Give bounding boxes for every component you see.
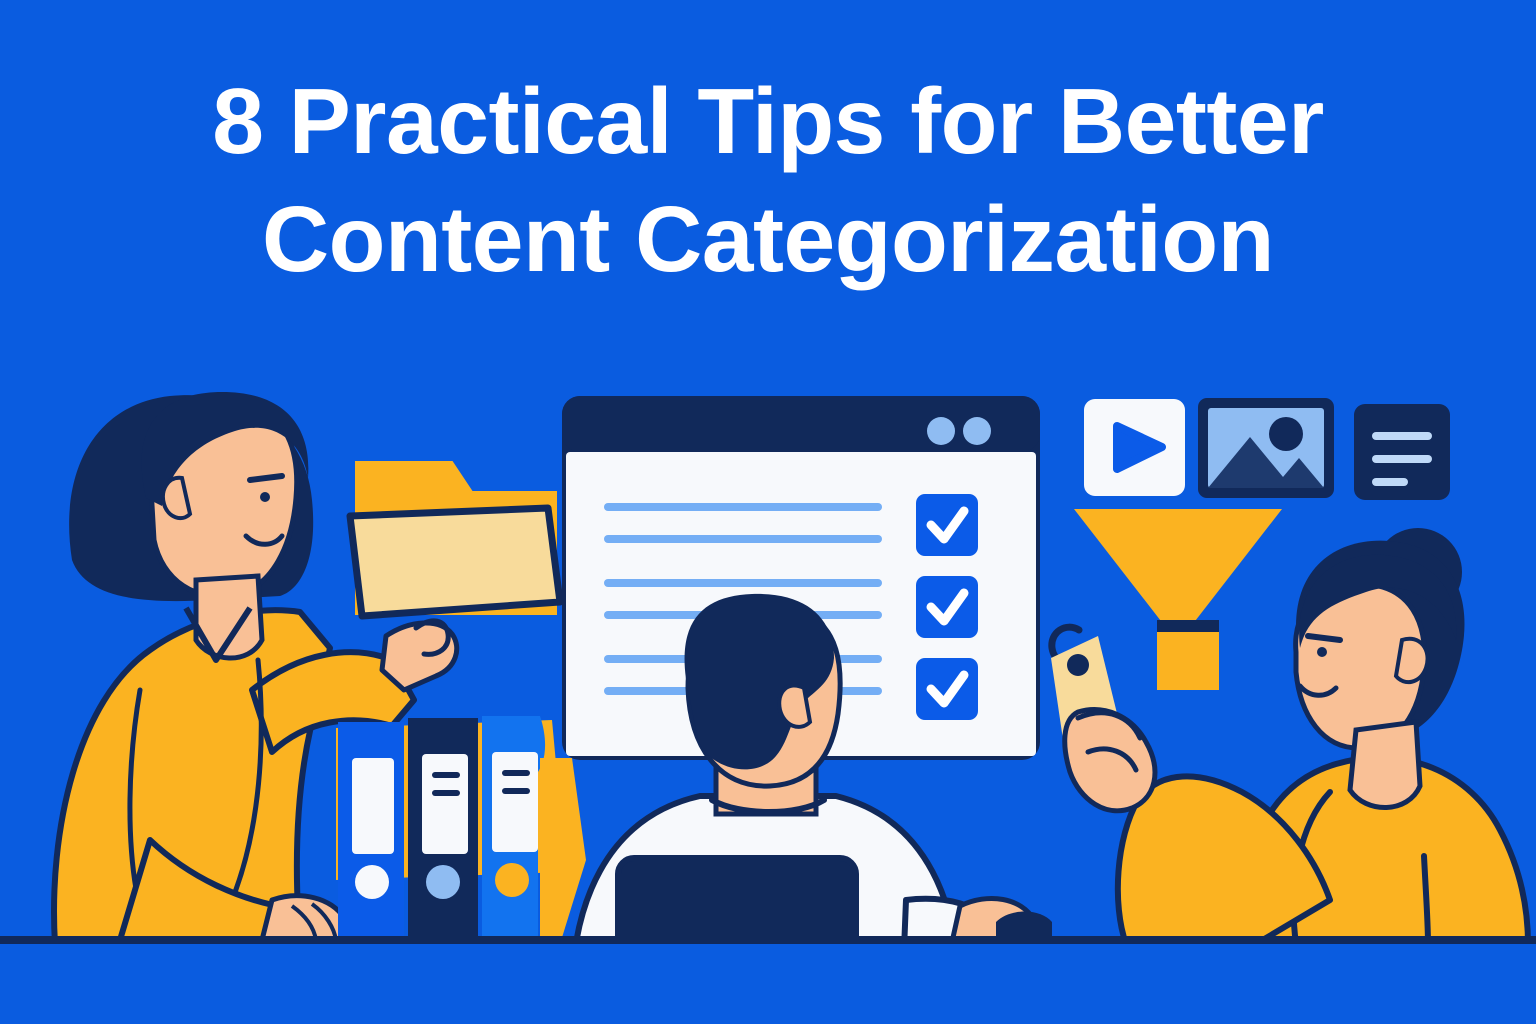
photo-icon-sun xyxy=(1269,417,1303,451)
desk-surface xyxy=(0,944,1536,1024)
eyebrow-right xyxy=(1308,636,1340,640)
image-photo-icon[interactable] xyxy=(1198,398,1334,498)
checkbox-2[interactable] xyxy=(916,576,978,638)
ear-right xyxy=(1396,639,1428,682)
doc-icon-line-3 xyxy=(1372,478,1408,486)
funnel-neck xyxy=(1157,632,1219,690)
banner-canvas: 8 Practical Tips for Better Content Cate… xyxy=(0,0,1536,1024)
checkbox-1[interactable] xyxy=(916,494,978,556)
binder-3-line-b xyxy=(502,788,530,794)
content-categorization-illustration xyxy=(0,0,1536,1024)
checkbox-group[interactable] xyxy=(916,494,978,720)
doc-icon-line-2 xyxy=(1372,455,1432,463)
video-play-icon[interactable] xyxy=(1084,399,1185,496)
binder-2-line-a xyxy=(432,772,460,778)
binder-shelf xyxy=(336,716,586,944)
binder-3-line-a xyxy=(502,770,530,776)
funnel-band xyxy=(1157,620,1219,632)
titlebar-dot-2[interactable] xyxy=(963,417,991,445)
titlebar-dot-1[interactable] xyxy=(927,417,955,445)
tag-hole xyxy=(1067,654,1089,676)
folder-front-flap xyxy=(350,508,560,616)
binder-1-dot xyxy=(355,865,389,899)
eyebrow-left xyxy=(250,476,282,480)
text-document-icon[interactable] xyxy=(1354,404,1450,500)
neck-right xyxy=(1350,722,1420,808)
ear-center xyxy=(779,685,810,726)
text-line-1 xyxy=(604,503,882,511)
binder-3-label xyxy=(492,752,538,852)
binder-1-label xyxy=(352,758,394,854)
binder-2-line-b xyxy=(432,790,460,796)
doc-icon-line-1 xyxy=(1372,432,1432,440)
eye-right xyxy=(1317,647,1327,657)
binder-2-dot xyxy=(426,865,460,899)
binder-2-label xyxy=(422,754,468,854)
text-line-3 xyxy=(604,579,882,587)
eye-left xyxy=(260,492,270,502)
binder-3-dot xyxy=(495,863,529,897)
text-line-2 xyxy=(604,535,882,543)
checkbox-3[interactable] xyxy=(916,658,978,720)
